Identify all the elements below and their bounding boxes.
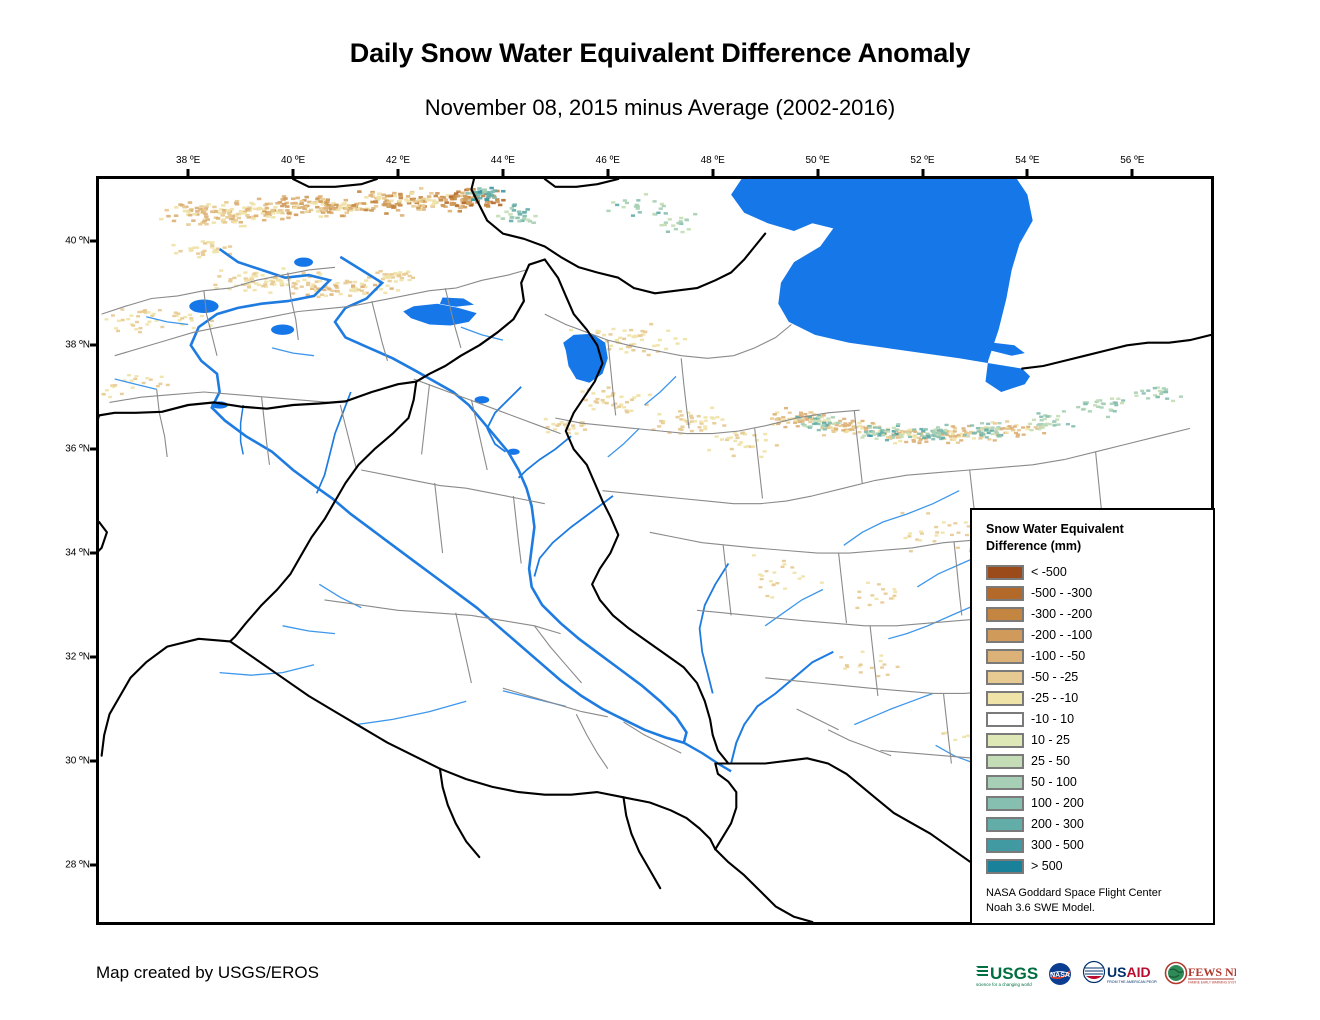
anomaly-cell [294,214,298,217]
anomaly-cell [775,582,779,584]
anomaly-cell [823,428,827,430]
anomaly-cell [344,199,348,202]
anomaly-cell [291,292,295,294]
anomaly-cell [1159,393,1163,395]
admin-boundary [157,389,168,457]
anomaly-cell [495,201,499,204]
anomaly-cell [460,192,464,195]
lon-tick-mark [711,169,714,176]
anomaly-cell [1179,395,1183,397]
anomaly-cell [793,572,797,574]
anomaly-cell [966,435,970,437]
anomaly-cell [693,420,697,422]
anomaly-cell [656,212,660,214]
anomaly-cell [1076,406,1080,408]
anomaly-cell [252,272,256,274]
admin-boundary [797,709,839,730]
legend-row: -300 - -200 [986,604,1201,625]
anomaly-cell [477,187,481,190]
anomaly-cell [462,201,466,204]
anomaly-cell [1164,391,1168,393]
anomaly-cell [640,339,644,341]
anomaly-cell [1039,416,1043,418]
river-minor [356,701,466,724]
anomaly-cell [1134,391,1138,393]
anomaly-cell [763,450,767,452]
legend-swatch [986,649,1024,664]
legend-label: 200 - 300 [1031,817,1084,831]
legend-swatch [986,796,1024,811]
anomaly-cell [965,534,969,536]
anomaly-cell [903,537,907,539]
legend-row: 300 - 500 [986,835,1201,856]
anomaly-cell [203,209,207,212]
anomaly-cell [463,206,467,209]
svg-text:FROM THE AMERICAN PEOPLE: FROM THE AMERICAN PEOPLE [1107,980,1157,984]
anomaly-cell [991,426,995,428]
anomaly-cell [216,247,220,249]
anomaly-cell [839,656,843,658]
anomaly-cell [772,571,776,573]
anomaly-cell [715,416,719,418]
anomaly-cell [680,426,684,428]
anomaly-cell [625,409,629,411]
anomaly-cell [188,201,192,204]
anomaly-cell [121,319,125,321]
anomaly-cell [432,202,436,205]
anomaly-cell [411,198,415,201]
anomaly-cell [911,439,915,441]
anomaly-cell [563,423,567,425]
anomaly-cell [885,439,889,441]
anomaly-cell [609,345,613,347]
anomaly-cell [657,425,661,427]
anomaly-cell [324,295,328,297]
anomaly-cell [953,430,957,432]
anomaly-cell [621,206,625,208]
anomaly-cell [801,575,805,577]
anomaly-cell [936,426,940,428]
anomaly-cell [629,329,633,331]
anomaly-cell [188,214,192,217]
anomaly-cell [551,423,555,425]
anomaly-cell [998,434,1002,436]
anomaly-cell [419,187,423,190]
anomaly-cell [913,435,917,437]
anomaly-cell [258,207,262,210]
legend-label: 50 - 100 [1031,775,1077,789]
anomaly-cell [782,560,786,562]
anomaly-cell [334,204,338,207]
lon-tick-label: 38 ºE [176,155,200,166]
legend-row: -50 - -25 [986,667,1201,688]
anomaly-cell [652,200,656,202]
admin-boundary [513,496,521,564]
anomaly-cell [388,280,392,282]
anomaly-cell [859,671,863,673]
anomaly-cell [953,739,957,741]
anomaly-cell [180,317,184,319]
anomaly-cell [448,210,452,213]
anomaly-cell [813,422,817,424]
anomaly-cell [418,200,422,203]
anomaly-cell [625,401,629,403]
anomaly-cell [336,290,340,292]
anomaly-cell [781,418,785,420]
anomaly-cell [674,228,678,230]
anomaly-cell [347,281,351,283]
anomaly-cell [730,448,734,450]
anomaly-cell [478,191,482,194]
anomaly-cell [351,284,355,286]
legend-label: 25 - 50 [1031,754,1070,768]
lat-tick-label: 38 ºN [48,340,90,351]
anomaly-cell [413,200,417,203]
anomaly-cell [786,421,790,423]
anomaly-cell [685,219,689,221]
anomaly-cell [353,287,357,289]
legend-row: -500 - -300 [986,583,1201,604]
anomaly-cell [822,414,826,416]
anomaly-cell [1005,420,1009,422]
anomaly-cell [583,428,587,430]
anomaly-cell [243,289,247,291]
anomaly-cell [1140,390,1144,392]
legend-note: NASA Goddard Space Flight Center Noah 3.… [986,886,1201,916]
river-tributary [645,376,677,405]
anomaly-cell [822,422,826,424]
anomaly-cell [206,203,210,206]
anomaly-cell [281,267,285,269]
anomaly-cell [860,427,864,429]
anomaly-cell [663,224,667,226]
anomaly-cell [735,434,739,436]
anomaly-cell [908,429,912,431]
anomaly-cell [319,215,323,218]
anomaly-cell [952,439,956,441]
anomaly-cell [1121,399,1125,401]
anomaly-cell [230,208,234,211]
anomaly-cell [759,456,763,458]
anomaly-cell [278,209,282,212]
admin-boundary [471,615,560,633]
anomaly-cell [302,279,306,281]
legend-label: -25 - -10 [1031,691,1078,705]
anomaly-cell [877,427,881,429]
anomaly-cell [875,598,879,600]
anomaly-cell [629,410,633,412]
lat-tick-mark [90,448,98,451]
anomaly-cell [249,202,253,205]
svg-text:FAMINE EARLY WARNING SYSTEMS N: FAMINE EARLY WARNING SYSTEMS NETWORK [1188,981,1236,985]
anomaly-cell [192,327,196,329]
anomaly-cell [1008,425,1012,427]
anomaly-cell [790,566,794,568]
anomaly-cell [360,283,364,285]
anomaly-cell [917,433,921,435]
anomaly-cell [340,215,344,218]
anomaly-cell [823,419,827,421]
anomaly-cell [801,418,805,420]
anomaly-cell [1106,416,1110,418]
anomaly-cell [770,596,774,598]
anomaly-cell [880,429,884,431]
anomaly-cell [237,217,241,220]
anomaly-cell [1043,418,1047,420]
anomaly-cell [293,283,297,285]
caspian-sea-shelf [991,343,1025,356]
admin-boundary [325,600,472,616]
anomaly-cell [429,192,433,195]
anomaly-cell [783,563,787,565]
anomaly-cell [985,428,989,430]
anomaly-cell [580,424,584,426]
anomaly-cell [214,210,218,213]
river-tributary [844,491,959,546]
lat-tick-mark [90,240,98,243]
river-diyala [534,496,613,577]
anomaly-cell [697,426,701,428]
legend-label: -100 - -50 [1031,649,1085,663]
anomaly-cell [895,429,899,431]
anomaly-cell [212,206,216,209]
admin-boundary [765,678,870,688]
anomaly-cell [657,413,661,415]
anomaly-cell [892,434,896,436]
anomaly-cell [1041,427,1045,429]
anomaly-cell [186,223,190,226]
anomaly-cell [866,582,870,584]
admin-boundary [115,322,246,356]
anomaly-cell [926,433,930,435]
anomaly-cell [139,327,143,329]
anomaly-cell [595,398,599,400]
anomaly-cell [299,202,303,205]
admin-boundary [723,545,731,615]
anomaly-cell [912,428,916,430]
anomaly-cell [1081,408,1085,410]
anomaly-cell [227,212,231,215]
anomaly-cell [1041,424,1045,426]
anomaly-cell [510,207,514,210]
anomaly-cell [906,431,910,433]
anomaly-cell [649,323,653,325]
anomaly-cell [595,401,599,403]
reservoir [189,300,218,314]
anomaly-cell [886,674,890,676]
anomaly-cell [454,192,458,195]
river-lesser-zab [519,436,572,478]
anomaly-cell [899,434,903,436]
anomaly-cell [652,345,656,347]
reservoir [294,257,313,266]
anomaly-cell [232,221,236,224]
anomaly-cell [611,394,615,396]
anomaly-cell [318,195,322,198]
anomaly-cell [265,207,269,210]
anomaly-cell [956,441,960,443]
anomaly-cell [466,188,470,191]
anomaly-cell [881,433,885,435]
anomaly-cell [924,441,928,443]
lon-tick-label: 44 ºE [491,155,515,166]
anomaly-cell [752,554,756,556]
lon-tick-mark [1026,169,1029,176]
anomaly-cell [666,230,670,232]
lon-tick-mark [606,169,609,176]
anomaly-cell [712,422,716,424]
admin-boundary [471,400,487,470]
anomaly-cell [642,350,646,352]
anomaly-cell [254,214,258,217]
anomaly-cell [882,663,886,665]
anomaly-cell [991,433,995,435]
anomaly-cell [673,337,677,339]
anomaly-cell [872,433,876,435]
anomaly-cell [142,310,146,312]
legend-swatch [986,607,1024,622]
anomaly-cell [300,285,304,287]
anomaly-cell [221,204,225,207]
anomaly-cell [1165,397,1169,399]
admin-boundary [954,542,962,616]
river-tigris [335,257,687,743]
anomaly-cell [301,206,305,209]
anomaly-cell [491,202,495,205]
anomaly-cell [210,241,214,243]
anomaly-cell [526,218,530,221]
admin-boundary [456,270,527,288]
anomaly-cell [888,436,892,438]
anomaly-cell [280,218,284,221]
anomaly-cell [116,330,120,332]
anomaly-cell [188,314,192,316]
anomaly-cell [817,429,821,431]
border-turkey-south [99,260,545,416]
anomaly-cell [893,442,897,444]
anomaly-cell [618,337,622,339]
admin-boundary [361,470,466,488]
legend-label: -50 - -25 [1031,670,1078,684]
anomaly-cell [622,406,626,408]
admin-boundary [944,693,952,763]
anomaly-cell [788,412,792,414]
anomaly-cell [295,197,299,200]
anomaly-cell [318,280,322,282]
anomaly-cell [485,198,489,201]
anomaly-cell [601,399,605,401]
anomaly-cell [219,269,223,271]
anomaly-cell [985,436,989,438]
border-iran-turkmenistan [1022,335,1211,369]
anomaly-cell [318,200,322,203]
anomaly-cell [322,210,326,213]
admin-boundary [1064,428,1190,459]
admin-boundary [881,540,976,550]
anomaly-cell [522,215,526,218]
anomaly-cell [710,407,714,409]
anomaly-cell [608,333,612,335]
anomaly-cell [327,211,331,214]
anomaly-cell [293,202,297,205]
anomaly-cell [191,219,195,222]
anomaly-cell [222,212,226,215]
anomaly-cell [416,207,420,210]
anomaly-cell [1071,425,1075,427]
anomaly-cell [544,418,548,420]
coastline-kuwait [715,764,736,850]
nasa-logo: NASA [1046,960,1074,988]
anomaly-cell [857,422,861,424]
lon-tick-mark [921,169,924,176]
anomaly-cell [223,246,227,248]
anomaly-cell [859,664,863,666]
anomaly-cell [933,428,937,430]
admin-boundary [660,426,765,434]
anomaly-cell [264,281,268,283]
anomaly-cell [114,327,118,329]
lat-tick-label: 36 ºN [48,444,90,455]
anomaly-cell [213,284,217,286]
anomaly-cell [607,395,611,397]
anomaly-cell [1096,399,1100,401]
anomaly-cell [703,425,707,427]
anomaly-cell [946,442,950,444]
anomaly-cell [766,595,770,597]
anomaly-cell [664,348,668,350]
anomaly-cell [735,437,739,439]
anomaly-cell [393,272,397,274]
anomaly-cell [625,202,629,204]
anomaly-cell [192,213,196,216]
anomaly-cell [216,217,220,220]
lon-tick-label: 54 ºE [1015,155,1039,166]
anomaly-cell [896,666,900,668]
admin-boundary [755,548,881,553]
anomaly-cell [921,430,925,432]
anomaly-cell [348,294,352,296]
border-kuwait-saudi [624,797,661,888]
anomaly-cell [324,215,328,218]
anomaly-cell [703,428,707,430]
anomaly-cell [796,425,800,427]
anomaly-cell [809,425,813,427]
anomaly-cell [1056,423,1060,425]
anomaly-cell [773,413,777,415]
anomaly-cell [131,386,135,388]
anomaly-cell [931,434,935,436]
anomaly-cell [951,433,955,435]
anomaly-cell [739,441,743,443]
anomaly-cell [348,207,352,210]
anomaly-cell [622,338,626,340]
anomaly-cell [961,427,965,429]
anomaly-cell [715,435,719,437]
anomaly-cell [291,197,295,200]
anomaly-cell [172,220,176,223]
anomaly-cell [195,210,199,213]
anomaly-cell [339,293,343,295]
anomaly-cell [1028,423,1032,425]
anomaly-cell [908,532,912,534]
anomaly-cell [784,407,788,409]
anomaly-cell [212,221,216,224]
lat-tick-label: 40 ºN [48,236,90,247]
border-syria-iraq [230,382,416,642]
anomaly-cell [450,203,454,206]
legend-row: -25 - -10 [986,688,1201,709]
anomaly-cell [879,654,883,656]
